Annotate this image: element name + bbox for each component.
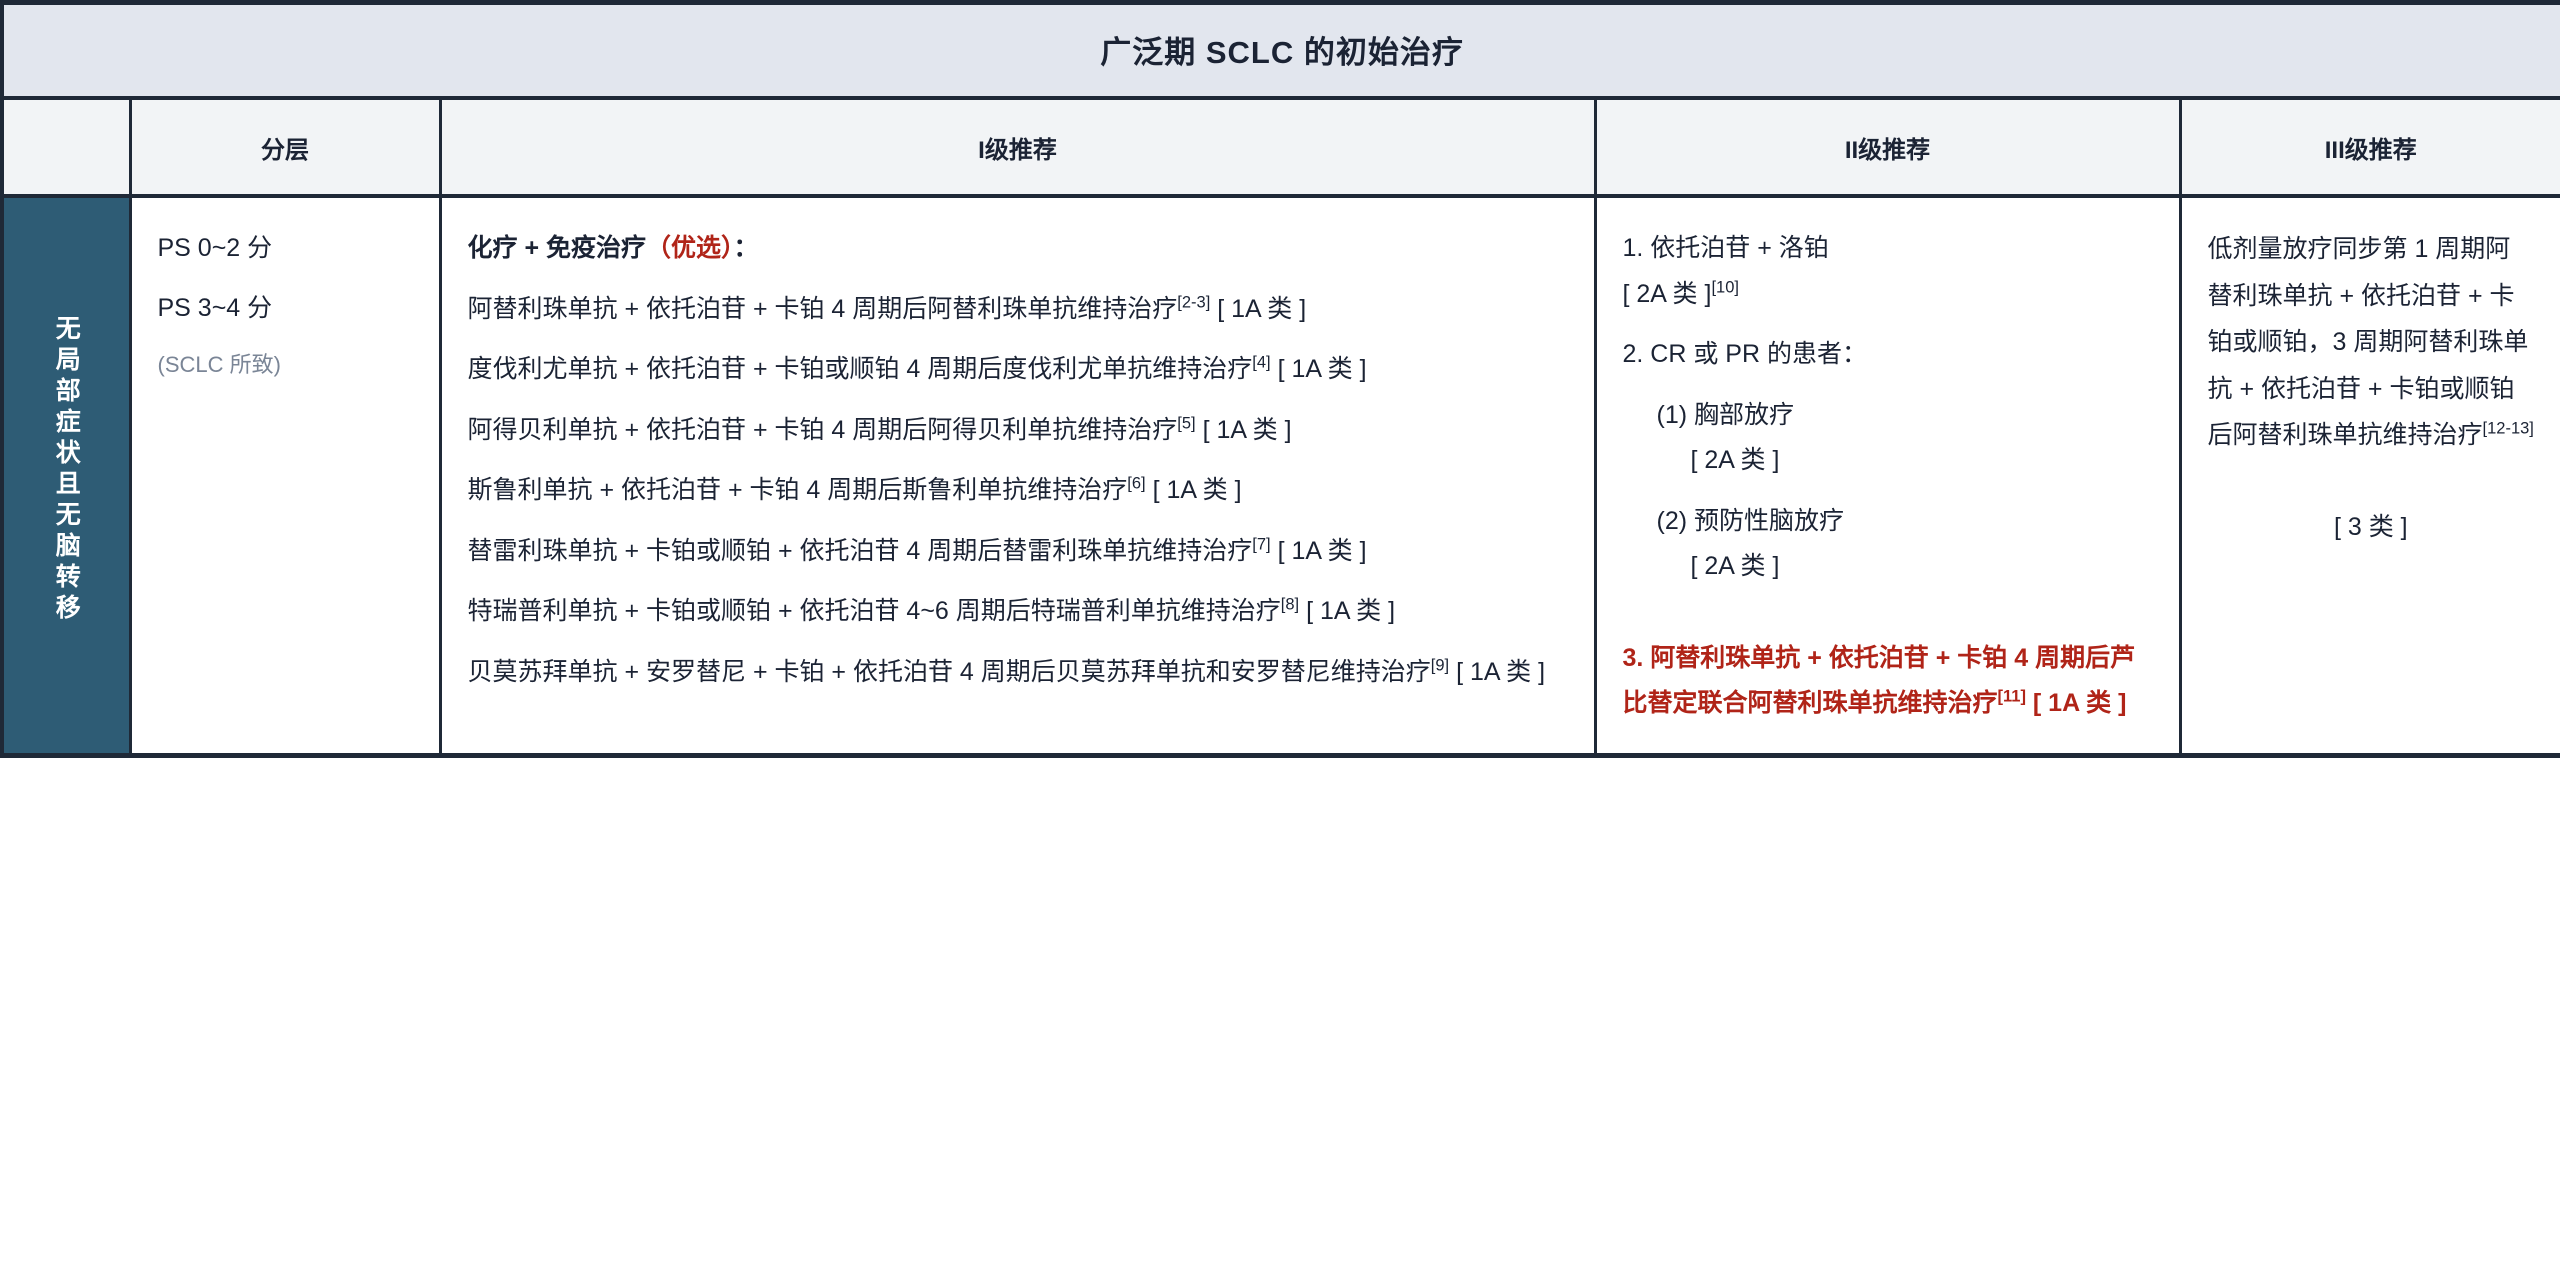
- level1-item-ref: [4]: [1252, 354, 1270, 372]
- level3-grade: [ 3 类 ]: [2208, 505, 2535, 551]
- cell-level1-recommendations: 化疗 + 免疫治疗（优选）： 阿替利珠单抗 + 依托泊苷 + 卡铂 4 周期后阿…: [440, 196, 1595, 755]
- level1-item: 斯鲁利单抗 + 依托泊苷 + 卡铂 4 周期后斯鲁利单抗维持治疗[6] [ 1A…: [468, 468, 1568, 514]
- level1-item-ref: [9]: [1431, 656, 1449, 674]
- level2-item-1-grade: [ 2A 类 ]: [1623, 280, 1712, 308]
- level2-item-1: 1. 依托泊苷 + 洛铂 [ 2A 类 ][10]: [1623, 226, 2153, 317]
- level1-item-grade: [ 1A 类 ]: [1278, 537, 1367, 565]
- row-category-label-text: 无局部症状且无脑转移: [47, 315, 85, 625]
- guideline-table: 广泛期 SCLC 的初始治疗 分层 I级推荐 II级推荐 III级推荐 无局部症…: [0, 0, 2560, 758]
- level3-item-ref: [12-13]: [2483, 420, 2534, 438]
- level1-heading-main: 化疗 + 免疫治疗: [468, 234, 647, 262]
- level1-heading-preferred: （优选）: [646, 234, 734, 262]
- level2-item-3: 3. 阿替利珠单抗 + 依托泊苷 + 卡铂 4 周期后芦比替定联合阿替利珠单抗维…: [1623, 636, 2153, 727]
- header-level3: III级推荐: [2180, 98, 2560, 196]
- level1-item-text: 度伐利尤单抗 + 依托泊苷 + 卡铂或顺铂 4 周期后度伐利尤单抗维持治疗: [468, 355, 1253, 383]
- guideline-page: 广泛期 SCLC 的初始治疗 分层 I级推荐 II级推荐 III级推荐 无局部症…: [0, 0, 2560, 1284]
- level1-item: 替雷利珠单抗 + 卡铂或顺铂 + 依托泊苷 4 周期后替雷利珠单抗维持治疗[7]…: [468, 529, 1568, 575]
- level2-item-2-sub-1-text: (1) 胸部放疗: [1657, 401, 1795, 429]
- stratification-ps-0-2: PS 0~2 分: [158, 226, 413, 272]
- level1-item-grade: [ 1A 类 ]: [1456, 658, 1545, 686]
- level2-item-2-text: 2. CR 或 PR 的患者：: [1623, 340, 1867, 368]
- level2-item-1-ref: [10]: [1711, 278, 1739, 296]
- level1-item-ref: [7]: [1252, 535, 1270, 553]
- level1-item-grade: [ 1A 类 ]: [1217, 295, 1306, 323]
- level2-item-2-sub-1: (1) 胸部放疗 [ 2A 类 ]: [1623, 393, 2153, 484]
- header-level1: I级推荐: [440, 98, 1595, 196]
- level1-item-ref: [5]: [1177, 414, 1195, 432]
- level1-item: 特瑞普利单抗 + 卡铂或顺铂 + 依托泊苷 4~6 周期后特瑞普利单抗维持治疗[…: [468, 589, 1568, 635]
- cell-stratification: PS 0~2 分 PS 3~4 分 (SCLC 所致): [130, 196, 440, 755]
- column-header-row: 分层 I级推荐 II级推荐 III级推荐: [2, 98, 2560, 196]
- level2-item-1-text: 1. 依托泊苷 + 洛铂: [1623, 234, 1829, 262]
- cell-level2-recommendations: 1. 依托泊苷 + 洛铂 [ 2A 类 ][10] 2. CR 或 PR 的患者…: [1595, 196, 2180, 755]
- table-row: 无局部症状且无脑转移 PS 0~2 分 PS 3~4 分 (SCLC 所致) 化…: [2, 196, 2560, 755]
- level1-item-grade: [ 1A 类 ]: [1306, 597, 1395, 625]
- level1-item-text: 阿替利珠单抗 + 依托泊苷 + 卡铂 4 周期后阿替利珠单抗维持治疗: [468, 295, 1178, 323]
- level1-item-ref: [2-3]: [1177, 293, 1210, 311]
- level1-item-grade: [ 1A 类 ]: [1153, 476, 1242, 504]
- level1-item-text: 贝莫苏拜单抗 + 安罗替尼 + 卡铂 + 依托泊苷 4 周期后贝莫苏拜单抗和安罗…: [468, 658, 1431, 686]
- level1-heading-colon: ：: [734, 234, 759, 262]
- stratification-ps-3-4: PS 3~4 分: [158, 286, 413, 332]
- level2-item-3-ref: [11]: [1998, 688, 2026, 706]
- level2-item-2-sub-2: (2) 预防性脑放疗 [ 2A 类 ]: [1623, 499, 2153, 590]
- level1-item-grade: [ 1A 类 ]: [1203, 416, 1292, 444]
- level3-item-text: 低剂量放疗同步第 1 周期阿替利珠单抗 + 依托泊苷 + 卡铂或顺铂，3 周期阿…: [2208, 235, 2529, 449]
- level1-item-text: 特瑞普利单抗 + 卡铂或顺铂 + 依托泊苷 4~6 周期后特瑞普利单抗维持治疗: [468, 597, 1281, 625]
- page-title: 广泛期 SCLC 的初始治疗: [2, 3, 2560, 99]
- level2-item-2-sub-2-grade: [ 2A 类 ]: [1657, 552, 1780, 580]
- level1-item: 阿替利珠单抗 + 依托泊苷 + 卡铂 4 周期后阿替利珠单抗维持治疗[2-3] …: [468, 287, 1568, 333]
- level1-item-text: 替雷利珠单抗 + 卡铂或顺铂 + 依托泊苷 4 周期后替雷利珠单抗维持治疗: [468, 537, 1253, 565]
- header-corner-blank: [2, 98, 130, 196]
- level1-item: 阿得贝利单抗 + 依托泊苷 + 卡铂 4 周期后阿得贝利单抗维持治疗[5] [ …: [468, 408, 1568, 454]
- row-category-label: 无局部症状且无脑转移: [2, 196, 130, 755]
- level1-item-ref: [8]: [1281, 596, 1299, 614]
- level1-item: 度伐利尤单抗 + 依托泊苷 + 卡铂或顺铂 4 周期后度伐利尤单抗维持治疗[4]…: [468, 347, 1568, 393]
- cell-level3-recommendations: 低剂量放疗同步第 1 周期阿替利珠单抗 + 依托泊苷 + 卡铂或顺铂，3 周期阿…: [2180, 196, 2560, 755]
- level2-item-3-grade: [ 1A 类 ]: [2033, 689, 2127, 717]
- level1-item-ref: [6]: [1127, 475, 1145, 493]
- header-stratification: 分层: [130, 98, 440, 196]
- header-level2: II级推荐: [1595, 98, 2180, 196]
- table-title-row: 广泛期 SCLC 的初始治疗: [2, 3, 2560, 99]
- level1-item-grade: [ 1A 类 ]: [1278, 355, 1367, 383]
- level1-heading: 化疗 + 免疫治疗（优选）：: [468, 226, 1568, 272]
- stratification-note: (SCLC 所致): [158, 345, 413, 385]
- level2-item-2-sub-2-text: (2) 预防性脑放疗: [1657, 507, 1845, 535]
- level1-item-text: 斯鲁利单抗 + 依托泊苷 + 卡铂 4 周期后斯鲁利单抗维持治疗: [468, 476, 1128, 504]
- level3-item: 低剂量放疗同步第 1 周期阿替利珠单抗 + 依托泊苷 + 卡铂或顺铂，3 周期阿…: [2208, 226, 2535, 459]
- level1-item-text: 阿得贝利单抗 + 依托泊苷 + 卡铂 4 周期后阿得贝利单抗维持治疗: [468, 416, 1178, 444]
- level2-item-2: 2. CR 或 PR 的患者：: [1623, 332, 2153, 378]
- level1-item: 贝莫苏拜单抗 + 安罗替尼 + 卡铂 + 依托泊苷 4 周期后贝莫苏拜单抗和安罗…: [468, 650, 1568, 696]
- level2-item-2-sub-1-grade: [ 2A 类 ]: [1657, 446, 1780, 474]
